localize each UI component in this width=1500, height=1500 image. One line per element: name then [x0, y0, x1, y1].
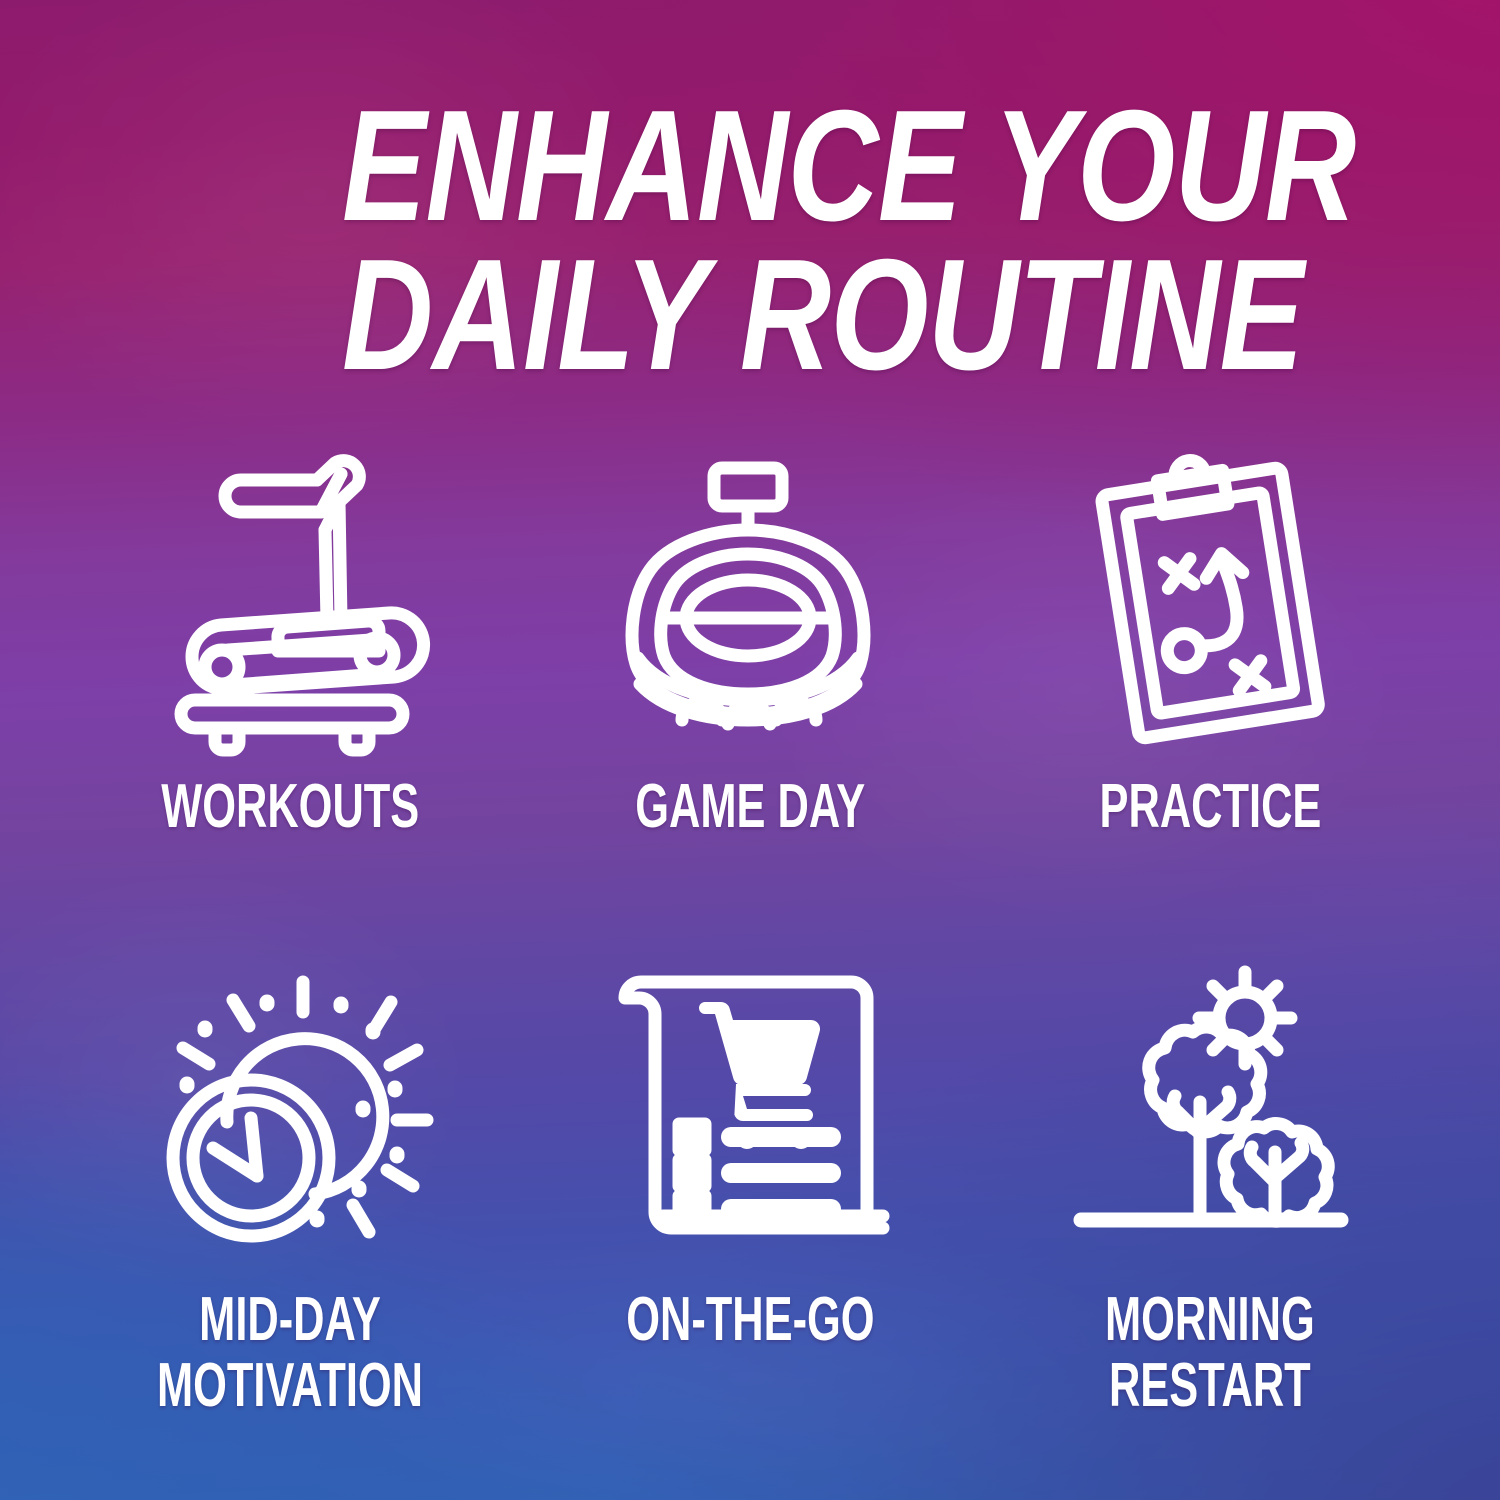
shopping-list-scroll-icon — [600, 957, 900, 1257]
stadium-icon — [600, 452, 900, 752]
feature-item-practice: PRACTICE — [980, 452, 1440, 957]
feature-grid: WORKOUTS — [60, 452, 1440, 1462]
feature-label-line: ON-THE-GO — [626, 1287, 874, 1353]
feature-label-line: MOTIVATION — [157, 1353, 423, 1419]
page-title: ENHANCE YOUR DAILY ROUTINE — [342, 92, 1230, 389]
sun-clock-icon — [140, 957, 440, 1257]
feature-label-line: MID-DAY — [157, 1287, 423, 1353]
feature-item-mid-day-motivation: MID-DAY MOTIVATION — [60, 957, 520, 1462]
headline-line-1: ENHANCE YOUR — [342, 92, 1230, 241]
trees-sun-icon — [1060, 957, 1360, 1257]
feature-item-game-day: GAME DAY — [520, 452, 980, 957]
promo-poster: ENHANCE YOUR DAILY ROUTINE — [0, 0, 1500, 1500]
feature-label-game-day: GAME DAY — [635, 774, 865, 840]
feature-label-mid-day-motivation: MID-DAY MOTIVATION — [157, 1287, 423, 1418]
feature-label-line: WORKOUTS — [161, 774, 419, 840]
feature-item-morning-restart: MORNING RESTART — [980, 957, 1440, 1462]
feature-label-line: PRACTICE — [1099, 774, 1321, 840]
feature-label-morning-restart: MORNING RESTART — [1105, 1287, 1315, 1418]
feature-label-line: RESTART — [1105, 1353, 1315, 1419]
headline-line-2: DAILY ROUTINE — [342, 241, 1230, 390]
feature-label-line: MORNING — [1105, 1287, 1315, 1353]
treadmill-icon — [140, 452, 440, 752]
feature-label-practice: PRACTICE — [1099, 774, 1321, 840]
clipboard-playbook-icon — [1060, 452, 1360, 752]
feature-label-workouts: WORKOUTS — [161, 774, 419, 840]
feature-label-line: GAME DAY — [635, 774, 865, 840]
feature-item-on-the-go: ON-THE-GO — [520, 957, 980, 1462]
feature-label-on-the-go: ON-THE-GO — [626, 1287, 874, 1353]
feature-item-workouts: WORKOUTS — [60, 452, 520, 957]
